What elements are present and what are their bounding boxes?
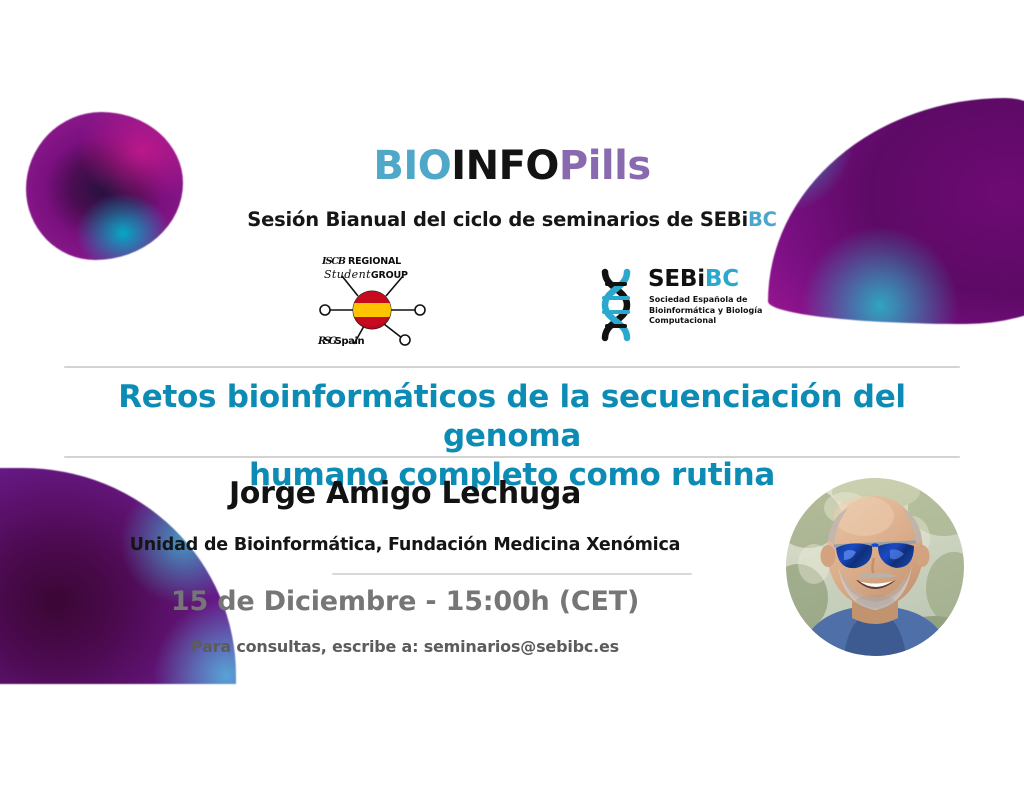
brand-title: BIOINFOPills [0, 146, 1024, 186]
iscb-rsg-spain-logo: ISCB REGIONAL StudentGROUP [306, 252, 438, 356]
rsg-spain-text: RSGSpain [318, 336, 364, 347]
sebibc-wordmark: SEBiBC [648, 268, 739, 291]
series-subtitle-main: Sesión Bianual del ciclo de seminarios d… [247, 208, 748, 231]
brand-title-bio: BIO [373, 143, 451, 189]
contact-prefix: Para consultas, escribe a: [191, 637, 424, 656]
series-subtitle-accent: BC [748, 208, 777, 231]
brand-title-pills: Pills [559, 143, 651, 189]
dna-helix-icon [592, 268, 640, 342]
decorative-blob-top-left [26, 112, 183, 260]
speaker-photo-avatar [786, 478, 964, 656]
sebibc-tagline-line2: Bioinformática y Biología [649, 306, 762, 317]
speaker-affiliation: Unidad de Bioinformática, Fundación Medi… [40, 535, 770, 555]
sebibc-wordmark-cyan: BC [705, 266, 739, 292]
seminar-poster: BIOINFOPills Sesión Bianual del ciclo de… [0, 0, 1024, 800]
speaker-name: Jorge Amigo Lechuga [40, 476, 770, 511]
sebibc-tagline-line3: Computacional [649, 316, 762, 327]
event-datetime: 15 de Diciembre - 15:00h (CET) [40, 586, 770, 617]
sebibc-logo: SEBiBC Sociedad Española de Bioinformáti… [592, 268, 758, 342]
sebibc-wordmark-dark: SEBi [648, 266, 705, 292]
talk-title-line1: Retos bioinformáticos de la secuenciació… [62, 378, 962, 456]
series-subtitle: Sesión Bianual del ciclo de seminarios d… [0, 208, 1024, 231]
sebibc-tagline: Sociedad Española de Bioinformática y Bi… [649, 295, 762, 327]
divider-above-datetime [332, 573, 692, 575]
speaker-portrait-illustration [786, 478, 964, 656]
rsg-country-label: Spain [335, 336, 365, 347]
divider-above-talk-title [64, 366, 960, 368]
contact-line: Para consultas, escribe a: seminarios@se… [40, 637, 770, 656]
rsg-country-mark: RSG [318, 336, 335, 347]
sebibc-tagline-line1: Sociedad Española de [649, 295, 762, 306]
logos-row: ISCB REGIONAL StudentGROUP [0, 250, 1024, 358]
contact-email[interactable]: seminarios@sebibc.es [424, 637, 619, 656]
brand-title-info: INFO [451, 143, 559, 189]
